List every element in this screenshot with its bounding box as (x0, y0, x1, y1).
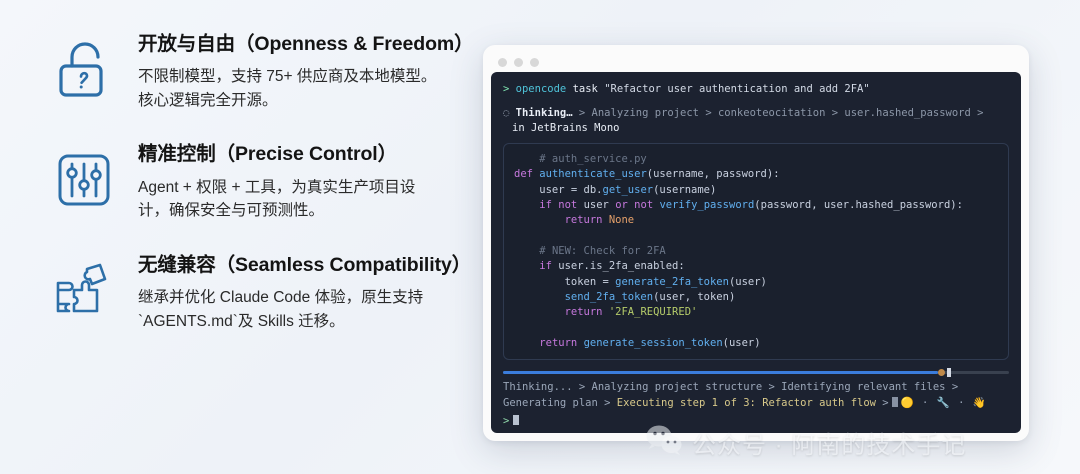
status-cursor-icon (892, 397, 898, 407)
close-dot[interactable] (498, 58, 507, 67)
feature-item-precise-control: 精准控制（Precise Control） Agent + 权限 + 工具，为真… (52, 140, 470, 222)
feature-title: 精准控制（Precise Control） (138, 142, 470, 167)
shell-prompt: > (503, 83, 509, 95)
status-emoji-icons: 🟡 · 🔧 · 👋 (901, 397, 987, 409)
progress-caret-icon (947, 368, 951, 377)
feature-text-openness: 开放与自由（Openness & Freedom） 不限制模型，支持 75+ 供… (138, 30, 470, 112)
terminal-titlebar (491, 53, 1021, 72)
status-line-2-suffix: > (876, 397, 889, 409)
feature-description: 不限制模型，支持 75+ 供应商及本地模型。核心逻辑完全开源。 (138, 65, 438, 112)
code-content: # auth_service.py def authenticate_user(… (514, 152, 998, 351)
feature-title: 无缝兼容（Seamless Compatibility） (138, 253, 470, 278)
thinking-trail: > Analyzing project > conkeoteocitation … (579, 107, 984, 119)
feature-description: 继承并优化 Claude Code 体验，原生支持`AGENTS.md`及 Sk… (138, 286, 438, 333)
promo-slide: 开放与自由（Openness & Freedom） 不限制模型，支持 75+ 供… (0, 0, 1080, 474)
feature-title: 开放与自由（Openness & Freedom） (138, 32, 470, 57)
status-line-1: Thinking... > Analyzing project structur… (503, 381, 958, 393)
sliders-icon (52, 148, 116, 212)
command-subcommand: task (573, 83, 598, 95)
thinking-label: Thinking… (516, 107, 573, 119)
feature-text-precise-control: 精准控制（Precise Control） Agent + 权限 + 工具，为真… (138, 140, 470, 222)
code-block: # auth_service.py def authenticate_user(… (503, 143, 1009, 360)
thinking-status: ◌ Thinking… > Analyzing project > conkeo… (503, 106, 1009, 136)
final-prompt-symbol: > (503, 415, 509, 427)
command-program: opencode (516, 83, 567, 95)
minimize-dot[interactable] (514, 58, 523, 67)
feature-description: Agent + 权限 + 工具，为真实生产项目设计，确保安全与可预测性。 (138, 176, 438, 223)
text-cursor-icon (513, 415, 519, 425)
terminal-window: > opencode task "Refactor user authentic… (483, 45, 1029, 441)
progress-fill (503, 371, 938, 374)
status-line-2-prefix: Generating plan > (503, 397, 617, 409)
terminal-command-line: > opencode task "Refactor user authentic… (503, 82, 1009, 97)
agent-status-line: Thinking... > Analyzing project structur… (503, 380, 1009, 411)
spinner-icon: ◌ (503, 107, 509, 119)
final-shell-prompt[interactable]: > (503, 414, 1009, 429)
progress-track (503, 371, 1009, 374)
thinking-second-line: in JetBrains Mono (503, 121, 1009, 136)
feature-item-openness: 开放与自由（Openness & Freedom） 不限制模型，支持 75+ 供… (52, 30, 470, 112)
feature-item-compatibility: 无缝兼容（Seamless Compatibility） 继承并优化 Claud… (52, 251, 470, 333)
status-line-2-highlight: Executing step 1 of 3: Refactor auth flo… (617, 397, 876, 409)
puzzle-pieces-icon (52, 259, 116, 323)
command-argument: "Refactor user authentication and add 2F… (604, 83, 870, 95)
terminal-window-wrapper: > opencode task "Refactor user authentic… (483, 45, 1029, 441)
feature-text-compatibility: 无缝兼容（Seamless Compatibility） 继承并优化 Claud… (138, 251, 470, 333)
progress-knob[interactable] (938, 369, 945, 376)
progress-bar[interactable] (503, 371, 1009, 374)
unlock-padlock-icon (52, 38, 116, 102)
feature-list: 开放与自由（Openness & Freedom） 不限制模型，支持 75+ 供… (0, 0, 470, 474)
terminal-body[interactable]: > opencode task "Refactor user authentic… (491, 72, 1021, 433)
maximize-dot[interactable] (530, 58, 539, 67)
